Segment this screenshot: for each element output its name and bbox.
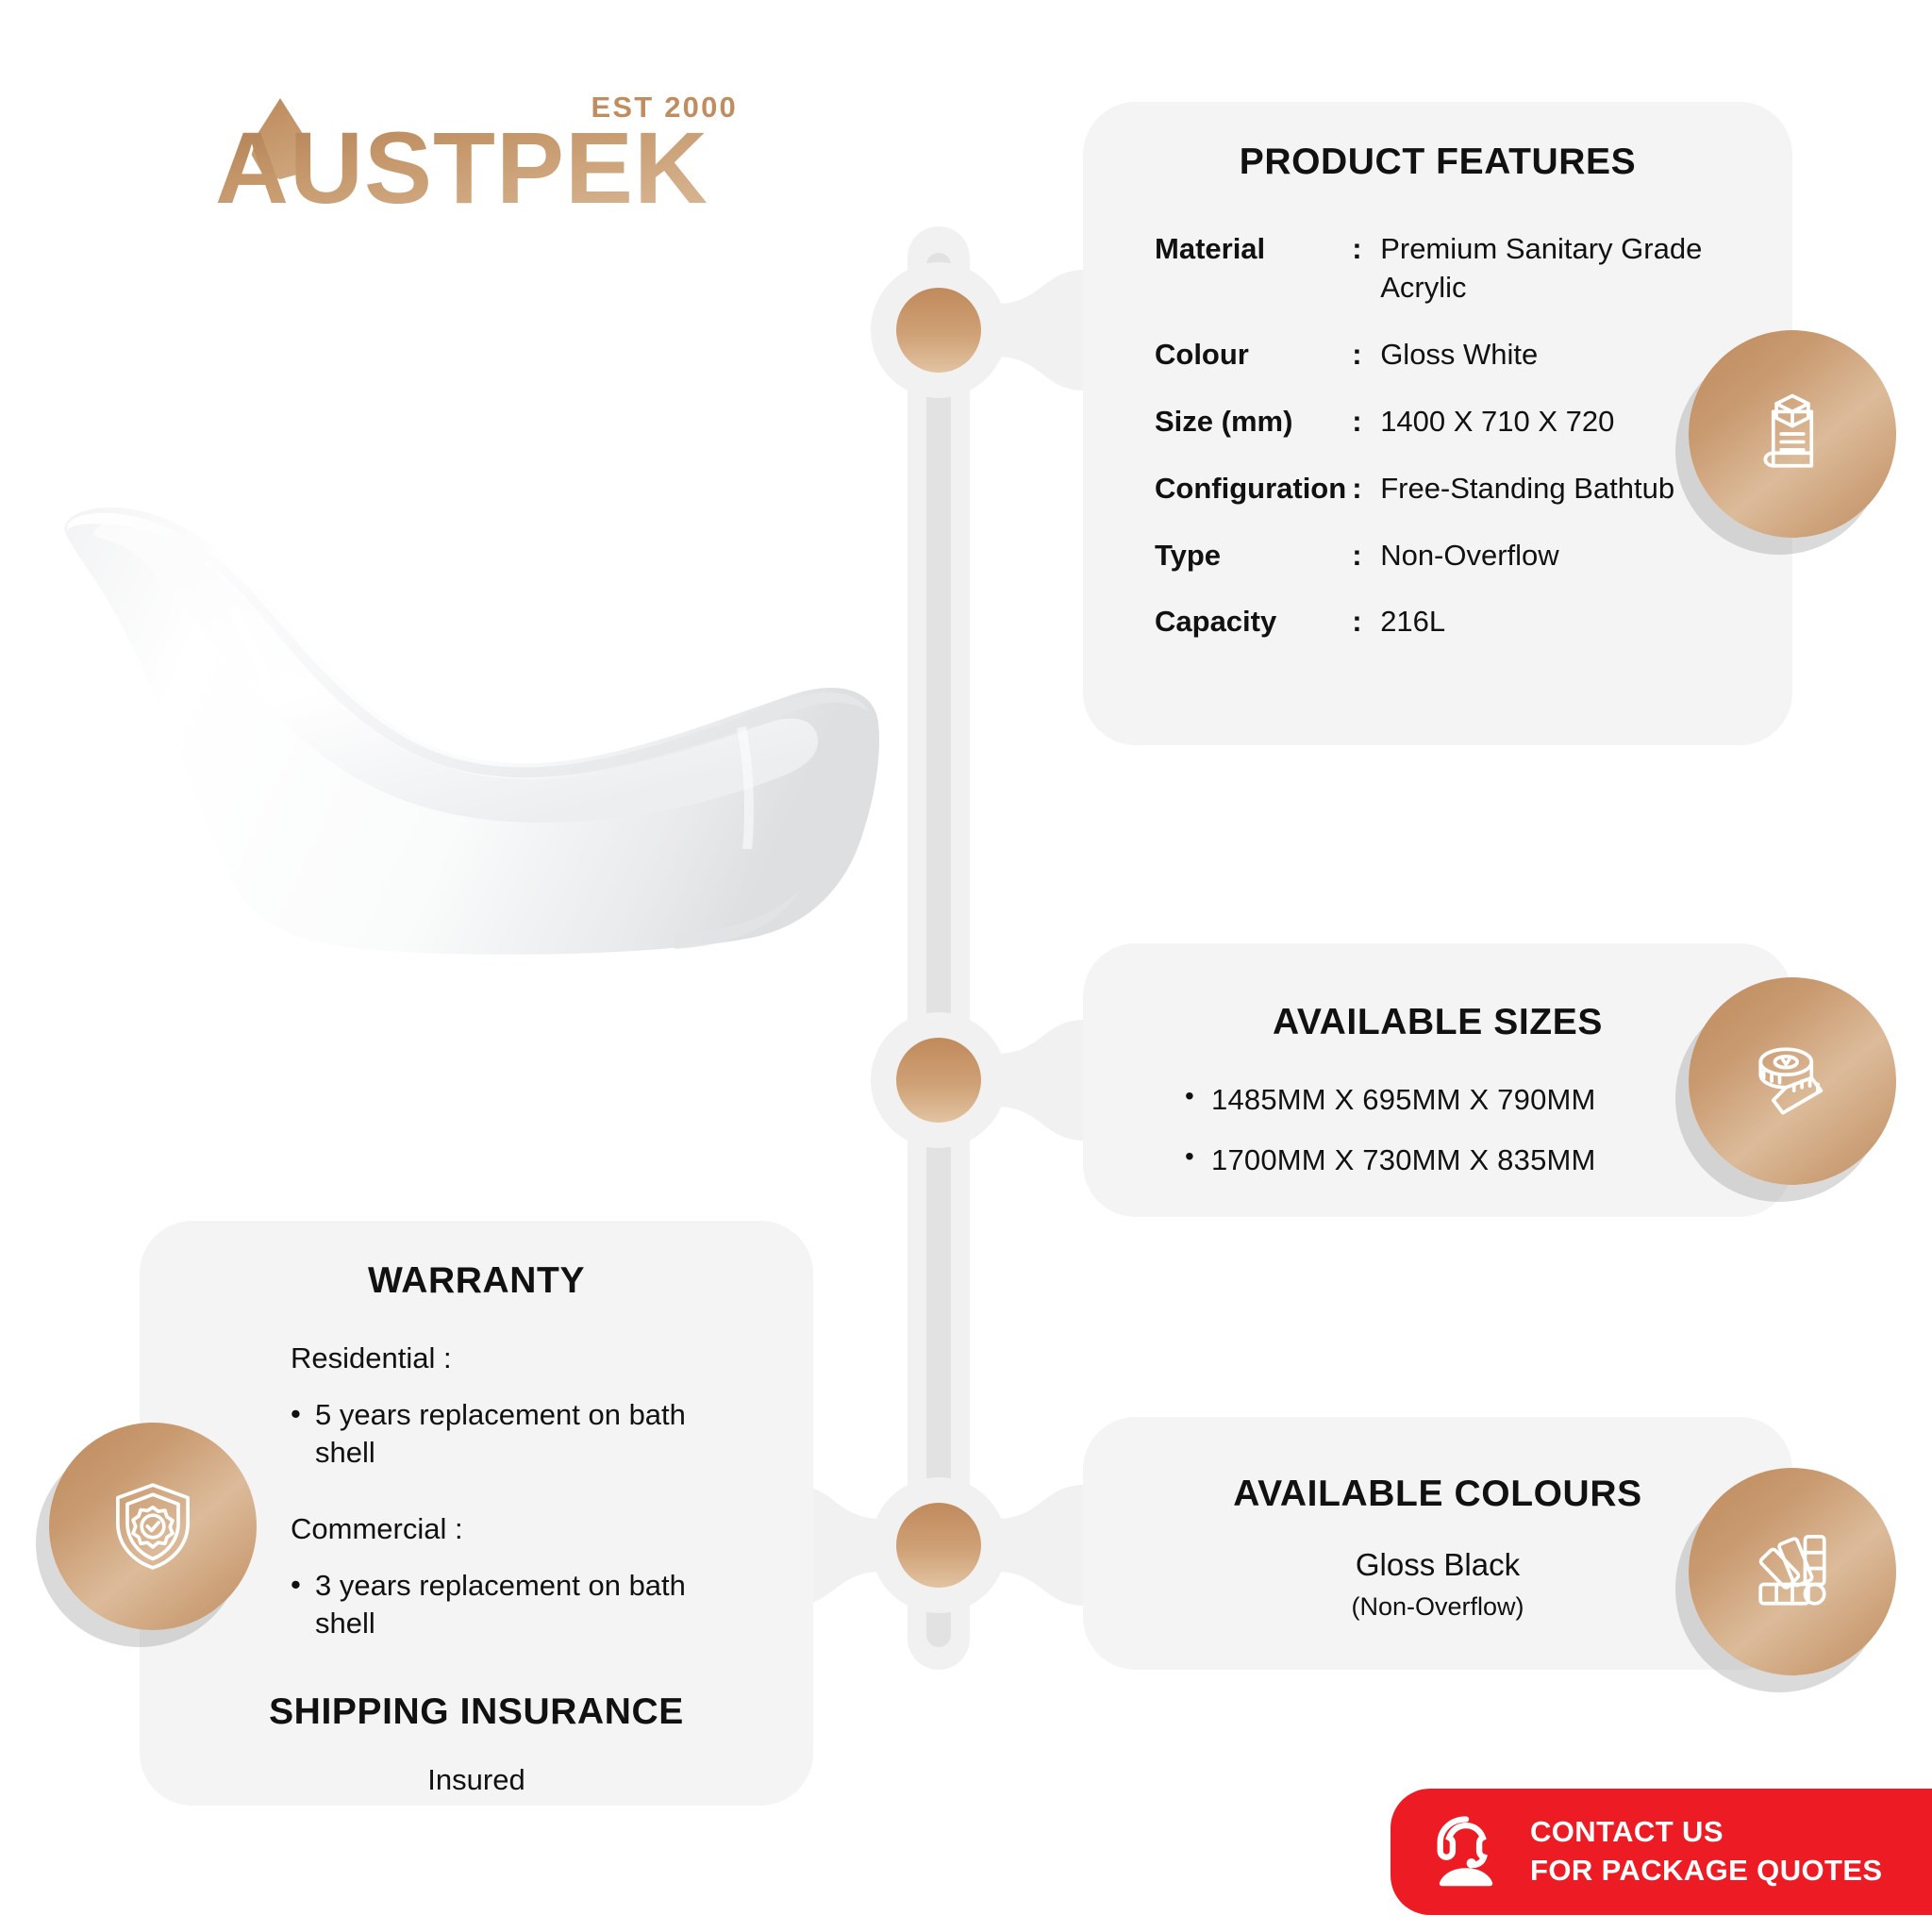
warranty-commercial-item: 3 years replacement on bath shell	[291, 1567, 696, 1643]
spec-value: 216L	[1371, 603, 1740, 670]
warranty-commercial-label: Commercial :	[291, 1512, 813, 1546]
product-image-bathtub	[52, 491, 891, 972]
panel-available-sizes: AVAILABLE SIZES 1485MM X 695MM X 790MM 1…	[1083, 943, 1792, 1217]
spec-value: Premium Sanitary Grade Acrylic	[1371, 230, 1740, 336]
shield-badge-check-icon	[49, 1423, 257, 1630]
spec-colon: :	[1346, 537, 1371, 604]
product-features-table: Material : Premium Sanitary Grade Acryli…	[1155, 230, 1740, 670]
brand-logo: EST 2000 AUSTPEK	[215, 91, 743, 223]
measuring-tape-icon	[1689, 977, 1896, 1185]
brand-name: AUSTPEK	[215, 117, 708, 219]
spec-value: Non-Overflow	[1371, 537, 1740, 604]
panel-sizes-title: AVAILABLE SIZES	[1083, 1002, 1792, 1043]
spec-colon: :	[1346, 470, 1371, 537]
contact-us-banner[interactable]: CONTACT US FOR PACKAGE QUOTES	[1391, 1789, 1932, 1915]
spec-key: Type	[1155, 537, 1346, 604]
shipping-insurance-value: Insured	[140, 1763, 813, 1797]
contact-line-1: CONTACT US	[1530, 1813, 1882, 1852]
table-row: Configuration : Free-Standing Bathtub	[1155, 470, 1740, 537]
panel-product-features: PRODUCT FEATURES Material : Premium Sani…	[1083, 102, 1792, 745]
warranty-residential-item: 5 years replacement on bath shell	[291, 1396, 696, 1473]
colour-option-name: Gloss Black	[1083, 1547, 1792, 1583]
warranty-residential-label: Residential :	[291, 1341, 813, 1375]
spine-node-features	[896, 288, 981, 373]
panel-available-colours: AVAILABLE COLOURS Gloss Black (Non-Overf…	[1083, 1417, 1792, 1670]
table-row: Colour : Gloss White	[1155, 336, 1740, 403]
colour-option-note: (Non-Overflow)	[1083, 1592, 1792, 1622]
shipping-insurance-title: SHIPPING INSURANCE	[140, 1691, 813, 1733]
table-row: Size (mm) : 1400 X 710 X 720	[1155, 403, 1740, 470]
spec-key: Capacity	[1155, 603, 1346, 670]
contact-line-2: FOR PACKAGE QUOTES	[1530, 1852, 1882, 1890]
panel-colours-title: AVAILABLE COLOURS	[1083, 1474, 1792, 1515]
table-row: Material : Premium Sanitary Grade Acryli…	[1155, 230, 1740, 336]
spec-key: Configuration	[1155, 470, 1346, 537]
panel-features-title: PRODUCT FEATURES	[1083, 142, 1792, 183]
spec-value: Gloss White	[1371, 336, 1740, 403]
headset-support-agent-icon	[1423, 1808, 1509, 1895]
spec-key: Colour	[1155, 336, 1346, 403]
spec-key: Material	[1155, 230, 1346, 336]
spec-key: Size (mm)	[1155, 403, 1346, 470]
list-item: 1700MM X 730MM X 835MM	[1185, 1143, 1792, 1177]
spec-colon: :	[1346, 603, 1371, 670]
panel-warranty-title: WARRANTY	[140, 1260, 813, 1302]
table-row: Type : Non-Overflow	[1155, 537, 1740, 604]
spec-colon: :	[1346, 336, 1371, 403]
product-spec-document-icon	[1689, 330, 1896, 538]
spine-node-colours	[896, 1503, 981, 1588]
spec-value: Free-Standing Bathtub	[1371, 470, 1740, 537]
colour-swatch-fan-icon	[1689, 1468, 1896, 1675]
spine-node-sizes	[896, 1038, 981, 1123]
spec-value: 1400 X 710 X 720	[1371, 403, 1740, 470]
spec-colon: :	[1346, 403, 1371, 470]
spec-colon: :	[1346, 230, 1371, 336]
contact-us-text: CONTACT US FOR PACKAGE QUOTES	[1530, 1813, 1882, 1890]
table-row: Capacity : 216L	[1155, 603, 1740, 670]
